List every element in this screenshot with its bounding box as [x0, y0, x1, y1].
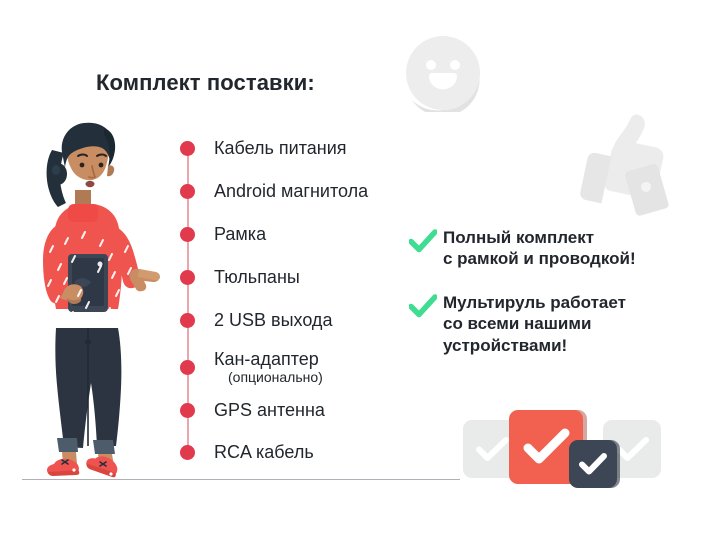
list-item: GPS антенна: [180, 400, 325, 420]
page-title: Комплект поставки:: [96, 70, 315, 96]
list-item: Тюльпаны: [180, 267, 300, 287]
list-item-label: RCA кабель: [214, 442, 314, 462]
list-item-label: GPS антенна: [214, 400, 325, 420]
list-item: Кан-адаптер (опционально): [180, 349, 323, 386]
list-item: Кабель питания: [180, 138, 347, 158]
bullet-dot-icon: [180, 360, 195, 375]
list-item-label: Android магнитола: [214, 181, 368, 201]
bullet-dot-icon: [180, 270, 195, 285]
bullet-dot-icon: [180, 141, 195, 156]
avito-watermark: Avito: [612, 500, 708, 526]
bullet-dot-icon: [180, 403, 195, 418]
bullet-dot-icon: [180, 445, 195, 460]
benefit-item: Полный комплект с рамкой и проводкой!: [409, 227, 636, 270]
benefit-line-3: устройствами!: [443, 336, 567, 355]
bullet-dot-icon: [180, 227, 195, 242]
thumbs-up-icon: [580, 112, 676, 218]
benefit-text: Полный комплект с рамкой и проводкой!: [443, 227, 636, 270]
check-mark-icon: [409, 294, 437, 319]
list-item-sub-text: (опционально): [214, 370, 323, 386]
bullet-dot-icon: [180, 184, 195, 199]
benefit-text: Мультируль работает со всеми нашими устр…: [443, 292, 626, 356]
checkbox-cards-cluster: [455, 404, 655, 496]
poster-canvas: Комплект поставки: Кабель питания Androi…: [0, 0, 720, 540]
benefit-item: Мультируль работает со всеми нашими устр…: [409, 292, 626, 356]
benefit-line-1: Полный комплект: [443, 228, 594, 247]
illustration-woman-with-tablet: [12, 112, 172, 490]
benefit-line-1: Мультируль работает: [443, 293, 626, 312]
avito-wordmark: Avito: [640, 504, 689, 526]
benefit-line-2: со всеми нашими: [443, 314, 591, 333]
list-item: 2 USB выхода: [180, 310, 332, 330]
bullet-dot-icon: [180, 313, 195, 328]
list-item-label: Рамка: [214, 224, 266, 244]
list-item-main-text: Кан-адаптер: [214, 349, 319, 369]
smiley-face-icon: [404, 34, 482, 112]
check-mark-icon: [409, 229, 437, 254]
benefit-line-2: с рамкой и проводкой!: [443, 249, 636, 268]
list-item-label: Кабель питания: [214, 138, 347, 158]
list-item: RCA кабель: [180, 442, 314, 462]
list-item: Android магнитола: [180, 181, 368, 201]
list-item-label: Тюльпаны: [214, 267, 300, 287]
list-item-label: 2 USB выхода: [214, 310, 332, 330]
list-item-label: Кан-адаптер (опционально): [214, 349, 323, 386]
list-item: Рамка: [180, 224, 266, 244]
checkbox-card-navy: [569, 440, 617, 488]
